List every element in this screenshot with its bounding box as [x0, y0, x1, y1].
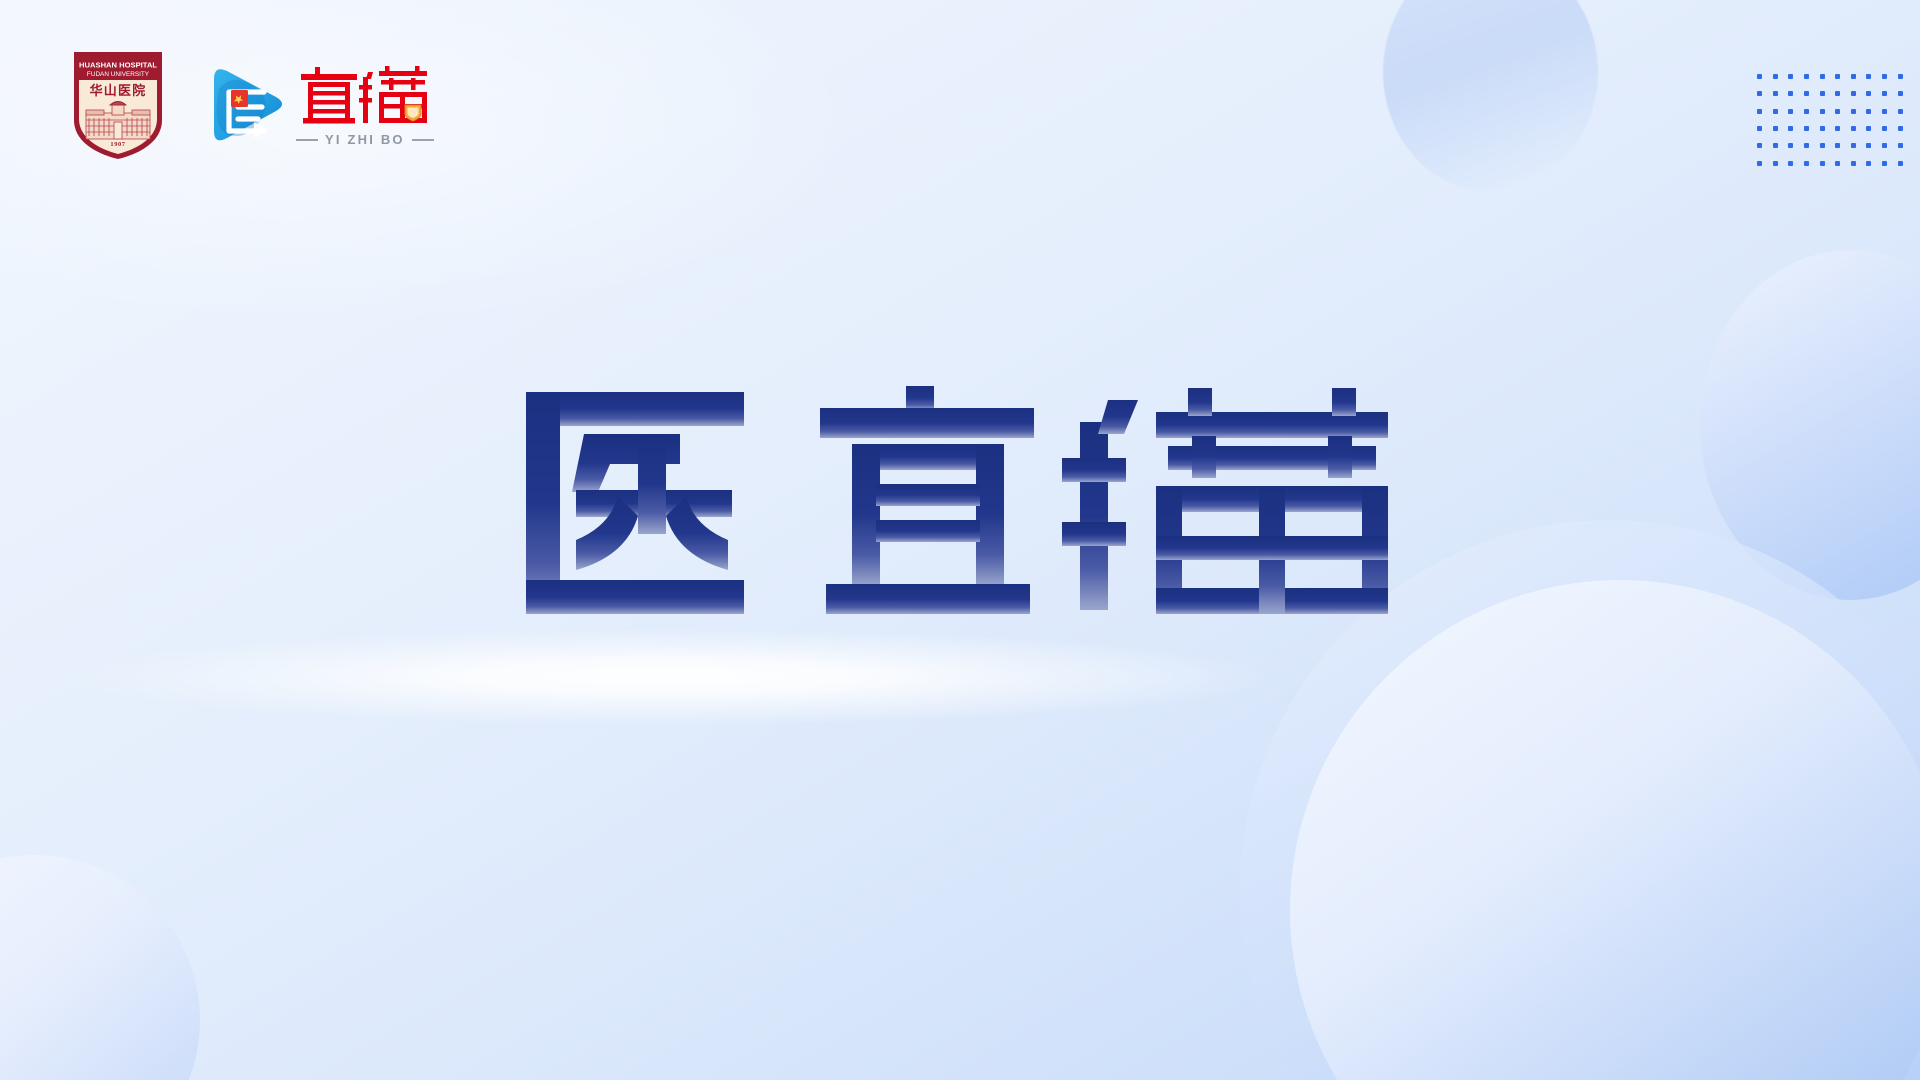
grid-dot — [1757, 161, 1762, 166]
grid-dot — [1773, 126, 1778, 131]
shield-year: 1907 — [110, 141, 125, 148]
logo-row: HUASHAN HOSPITAL FUDAN UNIVERSITY 华山医院 — [72, 50, 434, 160]
grid-dot — [1757, 109, 1762, 114]
huashan-hospital-shield: HUASHAN HOSPITAL FUDAN UNIVERSITY 华山医院 — [72, 50, 164, 160]
grid-dot — [1851, 161, 1856, 166]
page-title — [520, 386, 1400, 626]
dot-grid-pattern — [1752, 68, 1908, 172]
grid-dot — [1898, 74, 1903, 79]
grid-dot — [1804, 91, 1809, 96]
grid-dot — [1882, 109, 1887, 114]
pinyin-text: YI ZHI BO — [325, 132, 405, 147]
grid-dot — [1788, 74, 1793, 79]
title-char-bo — [1062, 388, 1388, 614]
grid-dot — [1851, 143, 1856, 148]
grid-dot — [1757, 74, 1762, 79]
horizontal-light-streak — [0, 612, 1460, 742]
grid-dot — [1820, 109, 1825, 114]
grid-dot — [1882, 91, 1887, 96]
party-emblem-badge — [231, 90, 248, 107]
grid-dot — [1788, 143, 1793, 148]
blob-bottom-left — [0, 855, 200, 1080]
grid-dot — [1820, 126, 1825, 131]
grid-dot — [1851, 91, 1856, 96]
yizhibo-logo: YI ZHI BO — [198, 59, 434, 151]
grid-dot — [1820, 74, 1825, 79]
grid-dot — [1804, 74, 1809, 79]
grid-dot — [1866, 161, 1871, 166]
grid-dot — [1882, 126, 1887, 131]
grid-dot — [1882, 74, 1887, 79]
title-char-zhi — [820, 386, 1034, 614]
grid-dot — [1866, 109, 1871, 114]
grid-dot — [1898, 91, 1903, 96]
grid-dot — [1882, 143, 1887, 148]
grid-dot — [1898, 143, 1903, 148]
pinyin-dash-left — [296, 139, 318, 141]
shield-accent-icon — [405, 105, 421, 121]
grid-dot — [1851, 109, 1856, 114]
title-char-yi — [526, 392, 744, 614]
grid-dot — [1804, 126, 1809, 131]
grid-dot — [1773, 109, 1778, 114]
pinyin-dash-right — [412, 139, 434, 141]
grid-dot — [1773, 74, 1778, 79]
grid-dot — [1835, 143, 1840, 148]
grid-dot — [1866, 143, 1871, 148]
grid-dot — [1835, 109, 1840, 114]
grid-dot — [1851, 74, 1856, 79]
grid-dot — [1898, 161, 1903, 166]
slide-canvas: HUASHAN HOSPITAL FUDAN UNIVERSITY 华山医院 — [0, 0, 1920, 1080]
grid-dot — [1898, 126, 1903, 131]
play-button-medical-icon — [198, 59, 290, 151]
grid-dot — [1773, 143, 1778, 148]
grid-dot — [1804, 109, 1809, 114]
grid-dot — [1866, 74, 1871, 79]
yizhibo-wordmark — [299, 65, 431, 127]
grid-dot — [1757, 143, 1762, 148]
grid-dot — [1804, 143, 1809, 148]
grid-dot — [1898, 109, 1903, 114]
grid-dot — [1820, 161, 1825, 166]
grid-dot — [1820, 91, 1825, 96]
grid-dot — [1804, 161, 1809, 166]
grid-dot — [1757, 91, 1762, 96]
small-play-arrow-icon — [254, 122, 268, 138]
grid-dot — [1851, 126, 1856, 131]
grid-dot — [1757, 126, 1762, 131]
blob-top-right-small — [1383, 0, 1598, 192]
grid-dot — [1866, 91, 1871, 96]
grid-dot — [1835, 91, 1840, 96]
blob-bottom-right-inner — [1290, 580, 1920, 1080]
yizhibo-wordmark-block: YI ZHI BO — [296, 65, 434, 147]
grid-dot — [1788, 109, 1793, 114]
grid-dot — [1773, 161, 1778, 166]
grid-dot — [1773, 91, 1778, 96]
grid-dot — [1882, 161, 1887, 166]
shield-en-line2: FUDAN UNIVERSITY — [87, 71, 150, 78]
blob-right-middle — [1700, 250, 1920, 600]
grid-dot — [1788, 161, 1793, 166]
grid-dot — [1835, 161, 1840, 166]
shield-en-line1: HUASHAN HOSPITAL — [79, 61, 157, 70]
shield-cn-name: 华山医院 — [90, 83, 147, 98]
yizhibo-pinyin: YI ZHI BO — [296, 132, 434, 147]
grid-dot — [1788, 91, 1793, 96]
grid-dot — [1835, 126, 1840, 131]
grid-dot — [1788, 126, 1793, 131]
grid-dot — [1835, 74, 1840, 79]
grid-dot — [1820, 143, 1825, 148]
grid-dot — [1866, 126, 1871, 131]
